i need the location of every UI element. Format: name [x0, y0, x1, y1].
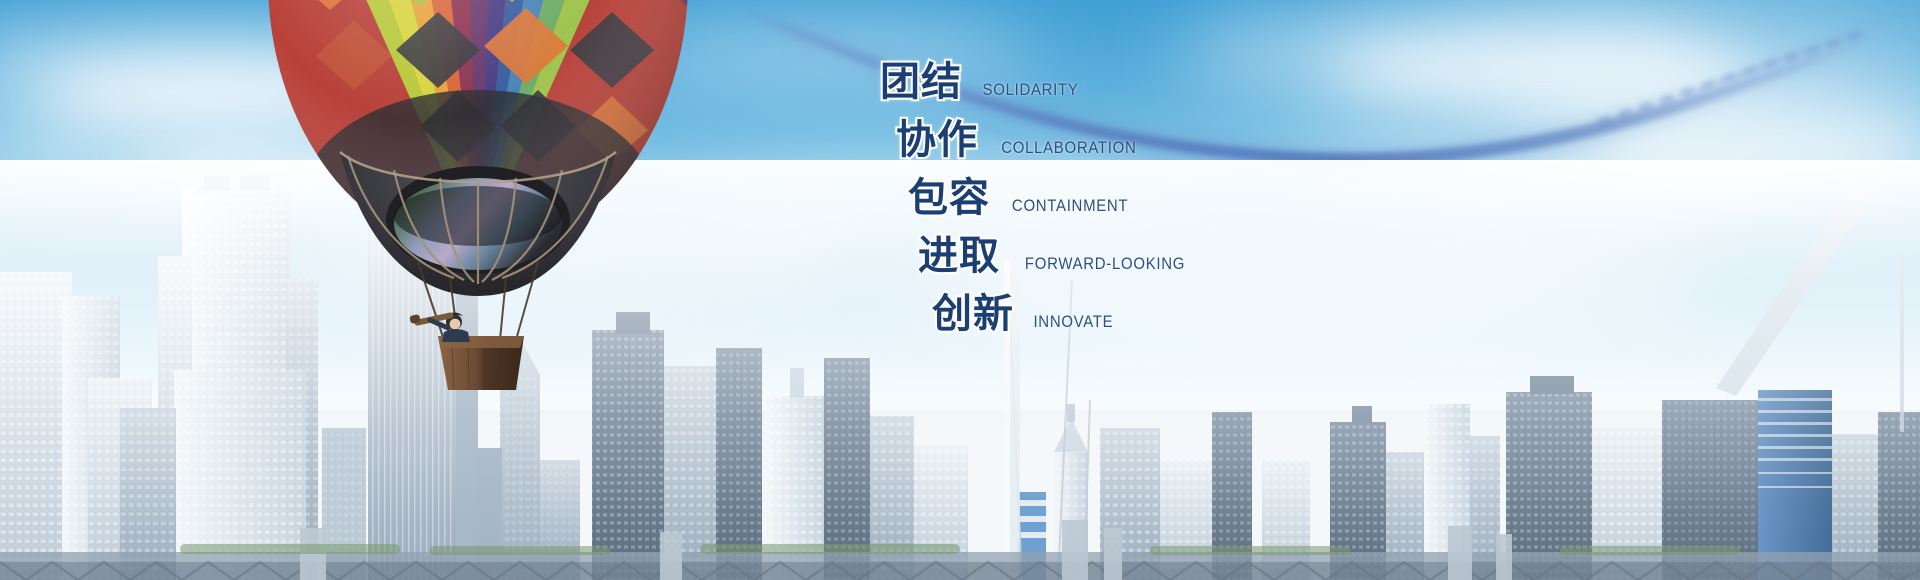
slogan-cn-4: 进取: [918, 236, 1000, 276]
slogan-cn-5: 创新: [932, 294, 1014, 334]
slogan-en-4: FORWARD-LOOKING: [1025, 254, 1185, 274]
slogan-cn-3: 包容: [908, 178, 990, 218]
balloon-basket: [438, 336, 524, 390]
slogan-en-2: COLLABORATION: [1001, 138, 1136, 158]
hot-air-balloon: [268, 0, 688, 370]
slogan-en-1: SOLIDARITY: [983, 80, 1079, 100]
slogan-line-5: 创新 INNOVATE: [932, 294, 1119, 334]
slogan-line-1: 团结 SOLIDARITY: [880, 62, 1085, 102]
slogan-en-5: INNOVATE: [1033, 312, 1113, 332]
slogan-cn-1: 团结: [880, 62, 962, 102]
slogan-line-3: 包容 CONTAINMENT: [908, 178, 1136, 218]
slogan-line-4: 进取 FORWARD-LOOKING: [918, 236, 1196, 276]
banner-root: 团结 SOLIDARITY 协作 COLLABORATION 包容 CONTAI…: [0, 0, 1920, 580]
slogan-line-2: 协作 COLLABORATION: [896, 120, 1146, 160]
slogan-en-3: CONTAINMENT: [1012, 196, 1128, 216]
balloon-skirt: [340, 152, 616, 296]
slogan-block: 团结 SOLIDARITY 协作 COLLABORATION 包容 CONTAI…: [840, 62, 1400, 362]
slogan-cn-2: 协作: [896, 120, 978, 160]
